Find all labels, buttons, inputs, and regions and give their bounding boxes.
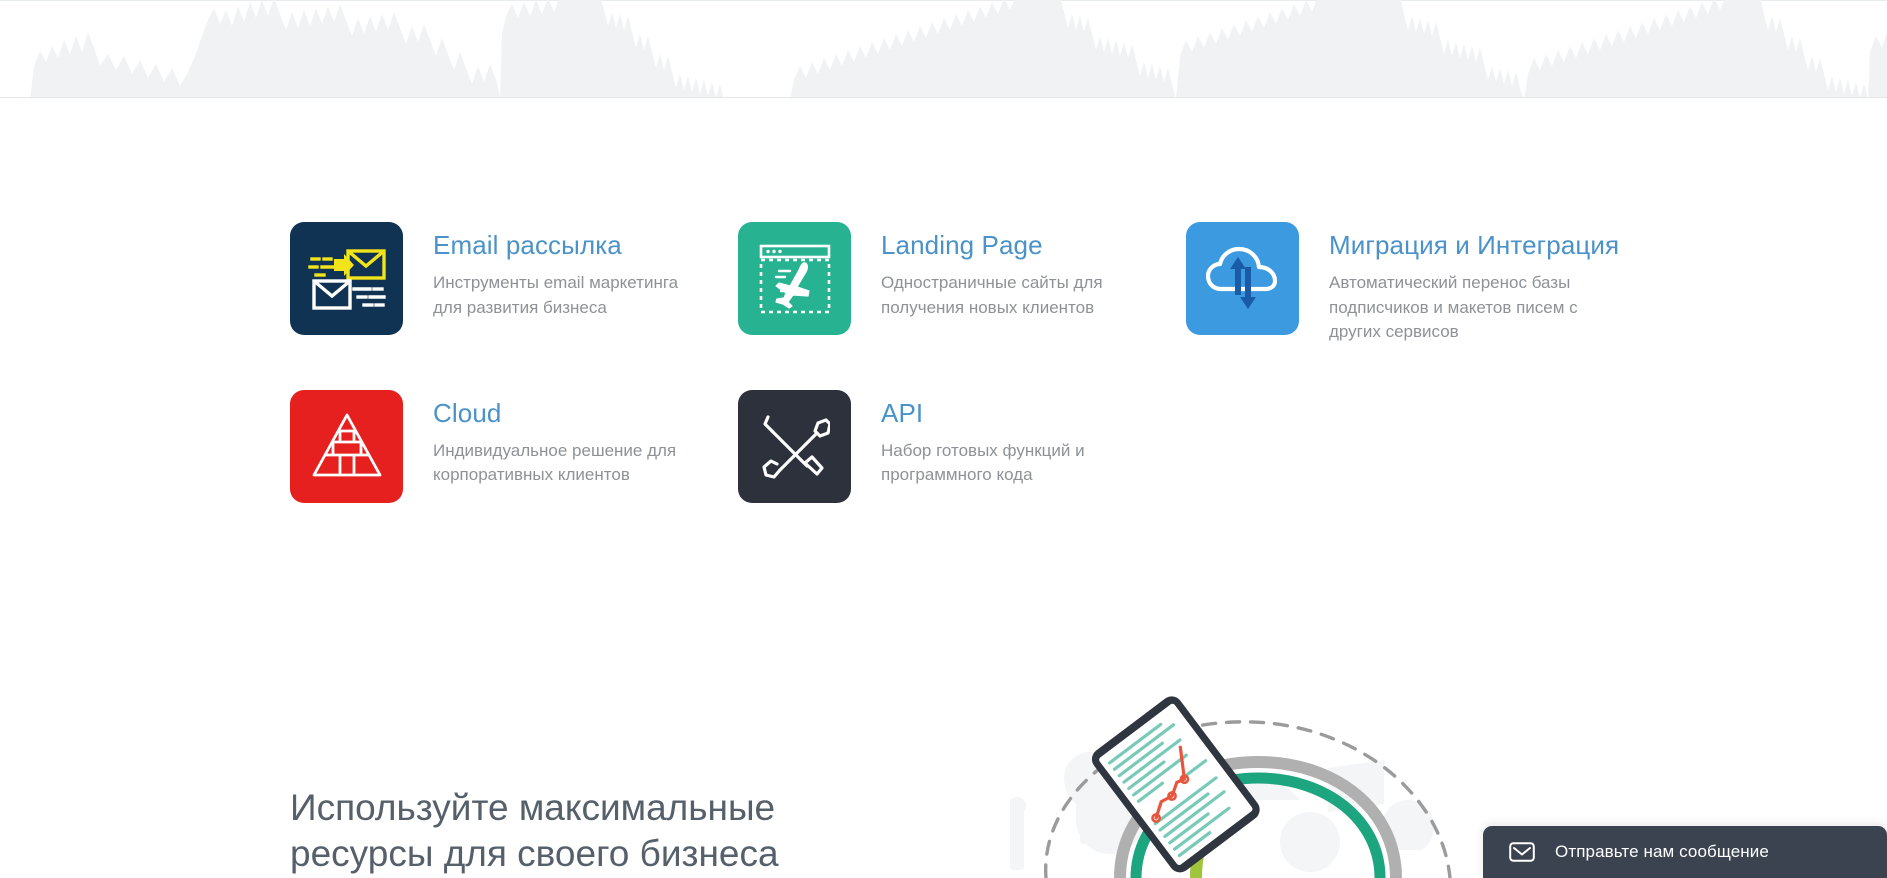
browser-airplane-icon bbox=[759, 244, 831, 314]
feature-migration-title[interactable]: Миграция и Интеграция bbox=[1329, 230, 1619, 260]
feature-email[interactable]: Email рассылка Инструменты email маркети… bbox=[290, 222, 738, 345]
chat-widget-label: Отправьте нам сообщение bbox=[1555, 842, 1769, 862]
feature-cloud-text: Cloud Индивидуальное решение для корпора… bbox=[433, 390, 695, 488]
chart-line bbox=[1131, 747, 1206, 818]
dashed-orbit-arc bbox=[1046, 722, 1450, 878]
envelope-send-icon bbox=[308, 245, 386, 313]
envelope-icon bbox=[1509, 842, 1535, 862]
world-map-watermark bbox=[0, 0, 1887, 98]
feature-landing-page-title[interactable]: Landing Page bbox=[881, 230, 1143, 260]
features-grid: Email рассылка Инструменты email маркети… bbox=[290, 222, 1690, 503]
wrench-screwdriver-icon bbox=[760, 411, 830, 481]
feature-cloud-tile[interactable] bbox=[290, 390, 403, 503]
feature-landing-page-description: Одностраничные сайты для получения новых… bbox=[881, 271, 1143, 320]
feature-email-title[interactable]: Email рассылка bbox=[433, 230, 695, 260]
feature-api-text: API Набор готовых функций и программного… bbox=[881, 390, 1143, 488]
feature-email-text: Email рассылка Инструменты email маркети… bbox=[433, 222, 695, 320]
features-row-2: Cloud Индивидуальное решение для корпора… bbox=[290, 390, 1690, 503]
feature-migration-text: Миграция и Интеграция Автоматический пер… bbox=[1329, 222, 1619, 345]
tablet-device bbox=[1088, 692, 1265, 877]
page-root: Email рассылка Инструменты email маркети… bbox=[0, 0, 1887, 878]
feature-email-tile[interactable] bbox=[290, 222, 403, 335]
feature-cloud-description: Индивидуальное решение для корпоративных… bbox=[433, 439, 695, 488]
feature-landing-page-text: Landing Page Одностраничные сайты для по… bbox=[881, 222, 1143, 320]
hero-map-band bbox=[0, 0, 1887, 98]
ring-green bbox=[1136, 778, 1380, 878]
features-row-1: Email рассылка Инструменты email маркети… bbox=[290, 222, 1690, 345]
feature-email-description: Инструменты email маркетинга для развити… bbox=[433, 271, 695, 320]
feature-api-tile[interactable] bbox=[738, 390, 851, 503]
feature-api-description: Набор готовых функций и программного код… bbox=[881, 439, 1143, 488]
cloud-sync-icon bbox=[1205, 245, 1281, 313]
feature-migration-description: Автоматический перенос базы подписчиков … bbox=[1329, 271, 1581, 345]
feature-migration-tile[interactable] bbox=[1186, 222, 1299, 335]
feature-cloud-title[interactable]: Cloud bbox=[433, 398, 695, 428]
feature-api-title[interactable]: API bbox=[881, 398, 1143, 428]
bottom-heading: Используйте максимальные ресурсы для сво… bbox=[290, 785, 850, 877]
ring-lime bbox=[1196, 800, 1238, 878]
feature-landing-page[interactable]: Landing Page Одностраничные сайты для по… bbox=[738, 222, 1186, 345]
feature-api[interactable]: API Набор готовых функций и программного… bbox=[738, 390, 1186, 503]
pyramid-icon bbox=[311, 412, 383, 480]
ring-outer bbox=[1120, 762, 1396, 878]
feature-migration[interactable]: Миграция и Интеграция Автоматический пер… bbox=[1186, 222, 1634, 345]
feature-cloud[interactable]: Cloud Индивидуальное решение для корпора… bbox=[290, 390, 738, 503]
feature-landing-page-tile[interactable] bbox=[738, 222, 851, 335]
chat-widget-button[interactable]: Отправьте нам сообщение bbox=[1483, 826, 1887, 878]
